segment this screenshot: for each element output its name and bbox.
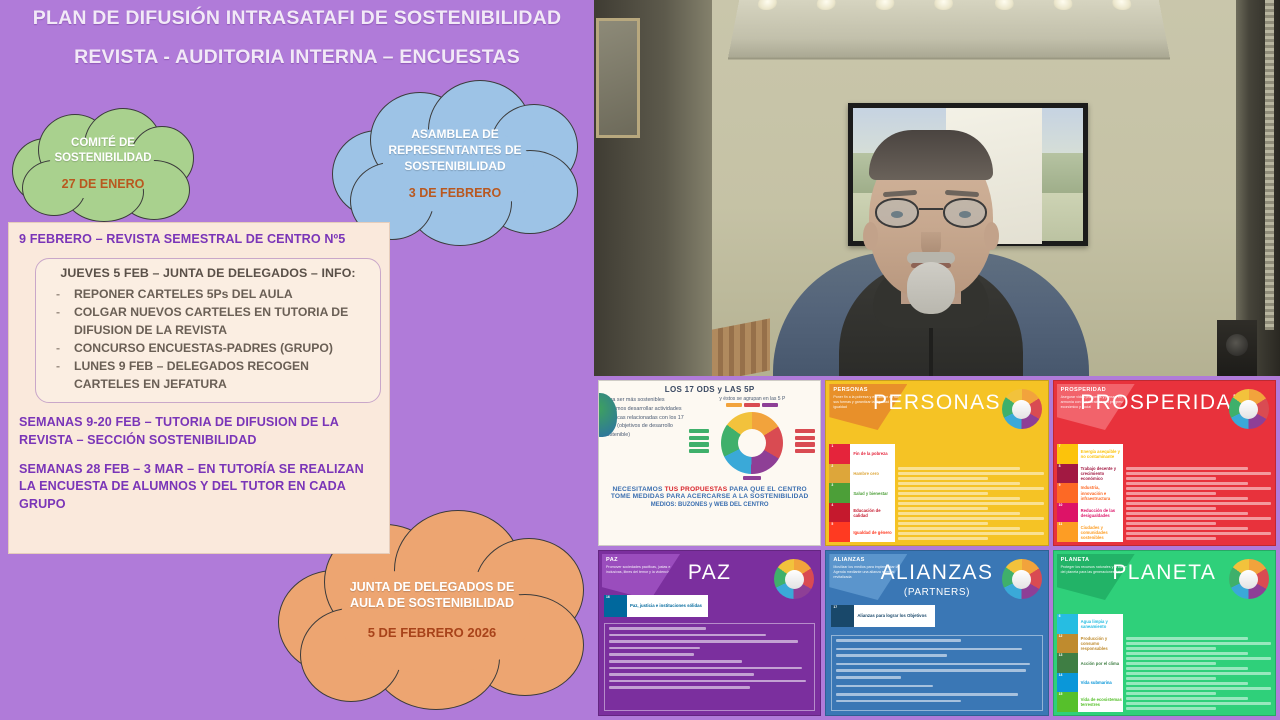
goal-row: 3 Salud y bienestar (829, 483, 895, 503)
list-item-label: COLGAR NUEVOS CARTELES EN TUTORIA DE DIF… (74, 305, 348, 336)
list-item: - CONCURSO ENCUESTAS-PADRES (GRUPO) (52, 340, 374, 357)
goal-row: 8 Trabajo decente y crecimiento económic… (1057, 464, 1123, 484)
poster-paz-goal: 16 Paz, justicia e instituciones sólidas (604, 595, 708, 617)
list-item: - LUNES 9 FEB – DELEGADOS RECOGEN CARTEL… (52, 358, 374, 393)
list-item-label: REPONER CARTELES 5Ps DEL AULA (74, 287, 293, 301)
ods-wheel-icon (1002, 389, 1042, 429)
goal-row: 14 Vida submarina (1057, 673, 1123, 693)
goal-label: Paz, justicia e instituciones sólidas (627, 595, 708, 617)
poster-personas-goals: 1 Fin de la pobreza 2 Hambre cero 3 Salu… (829, 444, 895, 542)
ceiling-light-bulb (816, 0, 836, 10)
ceiling-soffit (728, 0, 1171, 60)
agenda-content-box: 9 FEBRERO – REVISTA SEMESTRAL DE CENTRO … (8, 222, 390, 554)
eyeglass-bridge (919, 208, 943, 210)
poster-ods-caption: y éstos se agrupan en las 5 P (689, 396, 815, 402)
poster-ods-title: LOS 17 ODS y LAS 5P (604, 385, 815, 394)
poster-ods-footer-line-3: MEDIOS: BUZONES y WEB DEL CENTRO (604, 502, 815, 508)
goal-label: Fin de la pobreza (850, 444, 895, 464)
bullet-dash: - (56, 340, 60, 357)
poster-prosperidad-goals: 7 Energía asequible y no contaminante 8 … (1057, 444, 1123, 542)
poster-ods-footer: NECESITAMOS TUS PROPUESTAS PARA QUE EL C… (604, 486, 815, 508)
goal-number: 13 (1057, 653, 1078, 673)
webcam-video-feed[interactable] (594, 0, 1280, 376)
goal-label: Vida de ecosistemas terrestres (1078, 692, 1123, 712)
cloud-lobe (48, 138, 156, 200)
chip (795, 449, 815, 453)
goal-number: 12 (1057, 634, 1078, 654)
poster-alianzas[interactable]: ALIANZAS Movilizar los medios para imple… (825, 550, 1048, 716)
goal-row: 2 Hambre cero (829, 464, 895, 484)
slide-panel: PLAN DE DIFUSIÓN INTRASATAFI DE SOSTENIB… (0, 0, 594, 720)
goal-label: Energía asequible y no contaminante (1078, 444, 1123, 464)
chip (795, 442, 815, 446)
poster-prosperidad-descriptions (1126, 467, 1271, 542)
goal-number: 4 (829, 503, 850, 523)
cloud-lobe (382, 126, 534, 214)
slide-title-line-1: PLAN DE DIFUSIÓN INTRASATAFI DE SOSTENIB… (0, 7, 594, 30)
poster-prosperidad[interactable]: PROSPERIDAD Asegurar vidas prósperas y p… (1053, 380, 1276, 546)
bullet-dash: - (56, 304, 60, 321)
goal-number: 6 (1057, 614, 1078, 634)
ods-wheel-icon (774, 559, 814, 599)
list-item: - COLGAR NUEVOS CARTELES EN TUTORIA DE D… (52, 304, 374, 339)
footer-text-a: NECESITAMOS (612, 486, 664, 493)
eyeglass-lens-right (943, 198, 987, 228)
ods-wheel-icon (1002, 559, 1042, 599)
chip (795, 436, 815, 440)
chip (743, 476, 761, 480)
chip (795, 429, 815, 433)
presentation-screen: PLAN DE DIFUSIÓN INTRASATAFI DE SOSTENIB… (0, 0, 1280, 720)
goal-row: 1 Fin de la pobreza (829, 444, 895, 464)
goal-number: 10 (1057, 503, 1078, 523)
agenda-paragraph-1: SEMANAS 9-20 FEB – TUTORIA DE DIFUSION D… (19, 414, 379, 450)
poster-ods-footer-line-2: TOME MEDIDAS PARA ACERCARSE A LA SOSTENI… (604, 493, 815, 500)
goal-number: 3 (829, 483, 850, 503)
slide-title-line-2: REVISTA - AUDITORIA INTERNA – ENCUESTAS (0, 46, 594, 69)
poster-grid: LOS 17 ODS y LAS 5P Para ser más sosteni… (594, 376, 1280, 720)
ods-wheel-icon (1229, 559, 1269, 599)
goal-row: 15 Vida de ecosistemas terrestres (1057, 692, 1123, 712)
goal-label: Reducción de las desigualdades (1078, 503, 1123, 523)
goal-row: 4 Educación de calidad (829, 503, 895, 523)
ods-wheel-icon (721, 412, 783, 474)
poster-planeta[interactable]: PLANETA Proteger los recursos naturales … (1053, 550, 1276, 716)
agenda-paragraph-2: SEMANAS 28 FEB – 3 MAR – EN TUTORÍA SE R… (19, 461, 379, 515)
chip (744, 403, 760, 407)
chip (689, 442, 709, 446)
goal-label: Agua limpia y saneamiento (1078, 614, 1123, 634)
cloud-lobe (340, 566, 530, 674)
junta-delegados-list: - REPONER CARTELES 5Ps DEL AULA - COLGAR… (52, 286, 374, 393)
goal-label: Industria, innovación e infraestructura (1078, 483, 1123, 503)
ceiling-light-bulb (995, 0, 1014, 10)
junta-delegados-inner-box: JUEVES 5 FEB – JUNTA DE DELEGADOS – INFO… (35, 258, 381, 403)
goal-number: 1 (829, 444, 850, 464)
participant-hair (869, 130, 993, 180)
chip (689, 449, 709, 453)
poster-ods-footer-line-1: NECESITAMOS TUS PROPUESTAS PARA QUE EL C… (604, 486, 815, 493)
poster-personas[interactable]: PERSONAS Poner fin a la pobreza y el ham… (825, 380, 1048, 546)
list-item-label: CONCURSO ENCUESTAS-PADRES (GRUPO) (74, 341, 333, 355)
goal-row: 10 Reducción de las desigualdades (1057, 503, 1123, 523)
desk-speaker (1217, 320, 1257, 376)
goal-label: Producción y consumo responsables (1078, 634, 1123, 654)
goal-number: 16 (604, 595, 627, 617)
goal-row: 11 Ciudades y comunidades sostenibles (1057, 522, 1123, 542)
goal-number: 14 (1057, 673, 1078, 693)
goal-label: Acción por el clima (1078, 653, 1123, 673)
goal-row: 9 Industria, innovación e infraestructur… (1057, 483, 1123, 503)
list-item: - REPONER CARTELES 5Ps DEL AULA (52, 286, 374, 303)
bullet-dash: - (56, 358, 60, 375)
ods-wheel-icon (1229, 389, 1269, 429)
goal-label: Educación de calidad (850, 503, 895, 523)
wall-picture-left (596, 18, 640, 138)
inner-box-title: JUEVES 5 FEB – JUNTA DE DELEGADOS – INFO… (42, 266, 374, 280)
eyeglasses-icon (875, 198, 987, 228)
goal-row: 13 Acción por el clima (1057, 653, 1123, 673)
goal-label: Vida submarina (1078, 673, 1123, 693)
goal-row: 12 Producción y consumo responsables (1057, 634, 1123, 654)
list-item-label: LUNES 9 FEB – DELEGADOS RECOGEN CARTELES… (74, 359, 309, 390)
poster-ods-left-column: Para ser más sostenibles debemos desarro… (604, 396, 686, 483)
poster-alianzas-goal: 17 Alianzas para lograr los Objetivos (831, 605, 935, 627)
ceiling-light-bulb (1111, 0, 1132, 10)
chip (689, 436, 709, 440)
goal-number: 2 (829, 464, 850, 484)
window-blind (1265, 0, 1274, 330)
speaker-cone (1226, 334, 1248, 356)
goal-label: Trabajo decente y crecimiento económico (1078, 464, 1123, 484)
poster-paz[interactable]: PAZ Promover sociedades pacíficas, justa… (598, 550, 821, 716)
goal-number: 17 (831, 605, 854, 627)
goal-number: 11 (1057, 522, 1078, 542)
goal-label: Igualdad de género (850, 522, 895, 542)
footer-text-b: PARA QUE EL CENTRO (727, 486, 807, 493)
chip (726, 403, 742, 407)
ceiling-light-bulb (1053, 0, 1073, 10)
shelf-books (712, 318, 770, 376)
poster-alianzas-item-list (831, 635, 1042, 711)
goal-row: 6 Agua limpia y saneamiento (1057, 614, 1123, 634)
goal-number: 15 (1057, 692, 1078, 712)
ceiling-light-bulb (875, 0, 894, 10)
chip (762, 403, 778, 407)
bullet-dash: - (56, 286, 60, 303)
footer-highlight: TUS PROPUESTAS (665, 486, 728, 493)
agenda-heading: 9 FEBRERO – REVISTA SEMESTRAL DE CENTRO … (19, 231, 379, 249)
poster-ods-intro[interactable]: LOS 17 ODS y LAS 5P Para ser más sosteni… (598, 380, 821, 546)
goal-number: 9 (1057, 483, 1078, 503)
goal-number: 5 (829, 522, 850, 542)
goal-label: Ciudades y comunidades sostenibles (1078, 522, 1123, 542)
poster-personas-descriptions (898, 467, 1043, 542)
ceiling-light-bulb (757, 0, 778, 10)
poster-paz-item-list (604, 623, 815, 711)
poster-planeta-goals: 6 Agua limpia y saneamiento 12 Producció… (1057, 614, 1123, 712)
goal-row: 7 Energía asequible y no contaminante (1057, 444, 1123, 464)
participant-beard (907, 262, 955, 314)
eyeglass-lens-left (875, 198, 919, 228)
goal-label: Hambre cero (850, 464, 895, 484)
poster-planeta-descriptions (1126, 637, 1271, 712)
goal-row: 5 Igualdad de género (829, 522, 895, 542)
chip (689, 429, 709, 433)
cloud-comite-sostenibilidad: COMITÉ DE SOSTENIBILIDAD 27 DE ENERO (8, 104, 198, 224)
goal-number: 7 (1057, 444, 1078, 464)
goal-label: Salud y bienestar (850, 483, 895, 503)
goal-number: 8 (1057, 464, 1078, 484)
goal-label: Alianzas para lograr los Objetivos (854, 605, 935, 627)
ceiling-light-bulb (934, 0, 953, 10)
poster-ods-right-column: y éstos se agrupan en las 5 P (689, 396, 815, 483)
